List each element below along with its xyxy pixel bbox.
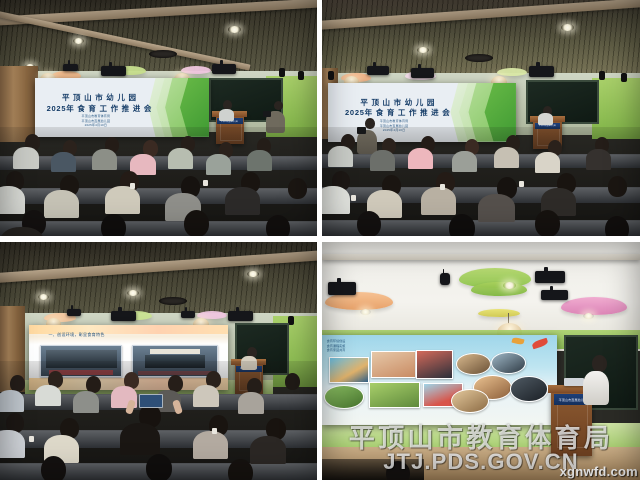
stage-spotlight bbox=[440, 273, 450, 285]
camera bbox=[263, 111, 271, 117]
slide-title: 平 顶 山 市 幼 儿 园 2025年 食 育 工 作 推 进 会 bbox=[340, 98, 456, 119]
audience-area bbox=[0, 361, 317, 480]
track-spotlight bbox=[288, 316, 294, 325]
presenter-body bbox=[538, 113, 553, 125]
track-spotlight bbox=[298, 71, 304, 80]
stage-spotlight bbox=[328, 282, 356, 295]
slide-photo bbox=[329, 357, 369, 383]
stage-spotlight bbox=[67, 309, 81, 316]
panel-bottom-right: 食育环境创设 食育课程实施 食育家园共育 bbox=[322, 242, 640, 480]
ceiling-vent bbox=[159, 297, 187, 305]
panel-bottom-left: 一、创设环境，彰显食育特色 平顶山市直属幼儿园 bbox=[0, 242, 317, 480]
stage-spotlight bbox=[111, 311, 136, 321]
presenter-body bbox=[219, 109, 234, 121]
slide-photo bbox=[369, 382, 420, 408]
ceiling-light bbox=[73, 38, 84, 44]
stage-spotlight bbox=[228, 311, 253, 321]
speaker-body bbox=[583, 371, 609, 405]
track-spotlight bbox=[279, 68, 285, 77]
ceiling-light bbox=[127, 290, 139, 296]
slide-subtitle: 平顶山市教育体育局 平顶山市直属幼儿园 2025年4月10日 bbox=[56, 114, 136, 128]
panel-top-left: 平 顶 山 市 幼 儿 园 2025年 食 育 工 作 推 进 会 平顶山市教育… bbox=[0, 0, 317, 236]
slide-photo bbox=[416, 350, 453, 379]
track-spotlight bbox=[328, 71, 334, 80]
ceiling-soffit bbox=[322, 254, 640, 260]
stage-spotlight bbox=[541, 290, 568, 300]
photo-collage: 平 顶 山 市 幼 儿 园 2025年 食 育 工 作 推 进 会 平顶山市教育… bbox=[0, 0, 640, 480]
slide-text: 食育环境创设 食育课程实施 食育家园共育 bbox=[327, 339, 346, 353]
slide-photo bbox=[451, 389, 488, 413]
track-spotlight bbox=[621, 73, 627, 82]
projection-screen: 食育环境创设 食育课程实施 食育家园共育 bbox=[322, 335, 557, 425]
ceiling-flower-decor bbox=[561, 297, 627, 315]
smartphone bbox=[139, 394, 163, 408]
stage-spotlight bbox=[529, 66, 554, 77]
stage-spotlight bbox=[535, 271, 565, 283]
ceiling-light bbox=[561, 24, 574, 31]
track-spotlight bbox=[599, 71, 605, 80]
laptop bbox=[564, 378, 584, 386]
ceiling-light bbox=[247, 271, 259, 277]
ceiling-flower-decor bbox=[478, 309, 520, 317]
ceiling-vent bbox=[149, 50, 177, 58]
stage-spotlight bbox=[212, 64, 236, 74]
slide-title: 平 顶 山 市 幼 儿 园 2025年 食 育 工 作 推 进 会 bbox=[45, 93, 153, 114]
stage-front-wall bbox=[322, 423, 640, 447]
slide-photo bbox=[371, 351, 415, 378]
watermark-site: xgnwfd.com bbox=[560, 464, 638, 479]
audience-area bbox=[0, 127, 317, 236]
stage-spotlight bbox=[367, 66, 389, 75]
slide-heading: 一、创设环境，彰显食育特色 bbox=[48, 332, 104, 338]
slide-photo bbox=[491, 352, 526, 374]
slide-decor-bird bbox=[531, 338, 548, 350]
ceiling-light bbox=[360, 309, 371, 315]
slide-photo bbox=[510, 376, 547, 402]
slide-decor-bird bbox=[512, 336, 525, 345]
panel-top-right: 平 顶 山 市 幼 儿 园 2025年 食 育 工 作 推 进 会 平顶山市教育… bbox=[322, 0, 640, 236]
stage-spotlight bbox=[181, 311, 195, 318]
slide-photo bbox=[324, 385, 364, 409]
stage-spotlight bbox=[411, 68, 434, 78]
slide-photo bbox=[456, 353, 491, 375]
speaker-head bbox=[592, 355, 607, 372]
audience-area bbox=[322, 127, 640, 236]
stage-spotlight bbox=[101, 66, 126, 76]
stage-spotlight bbox=[63, 64, 78, 71]
